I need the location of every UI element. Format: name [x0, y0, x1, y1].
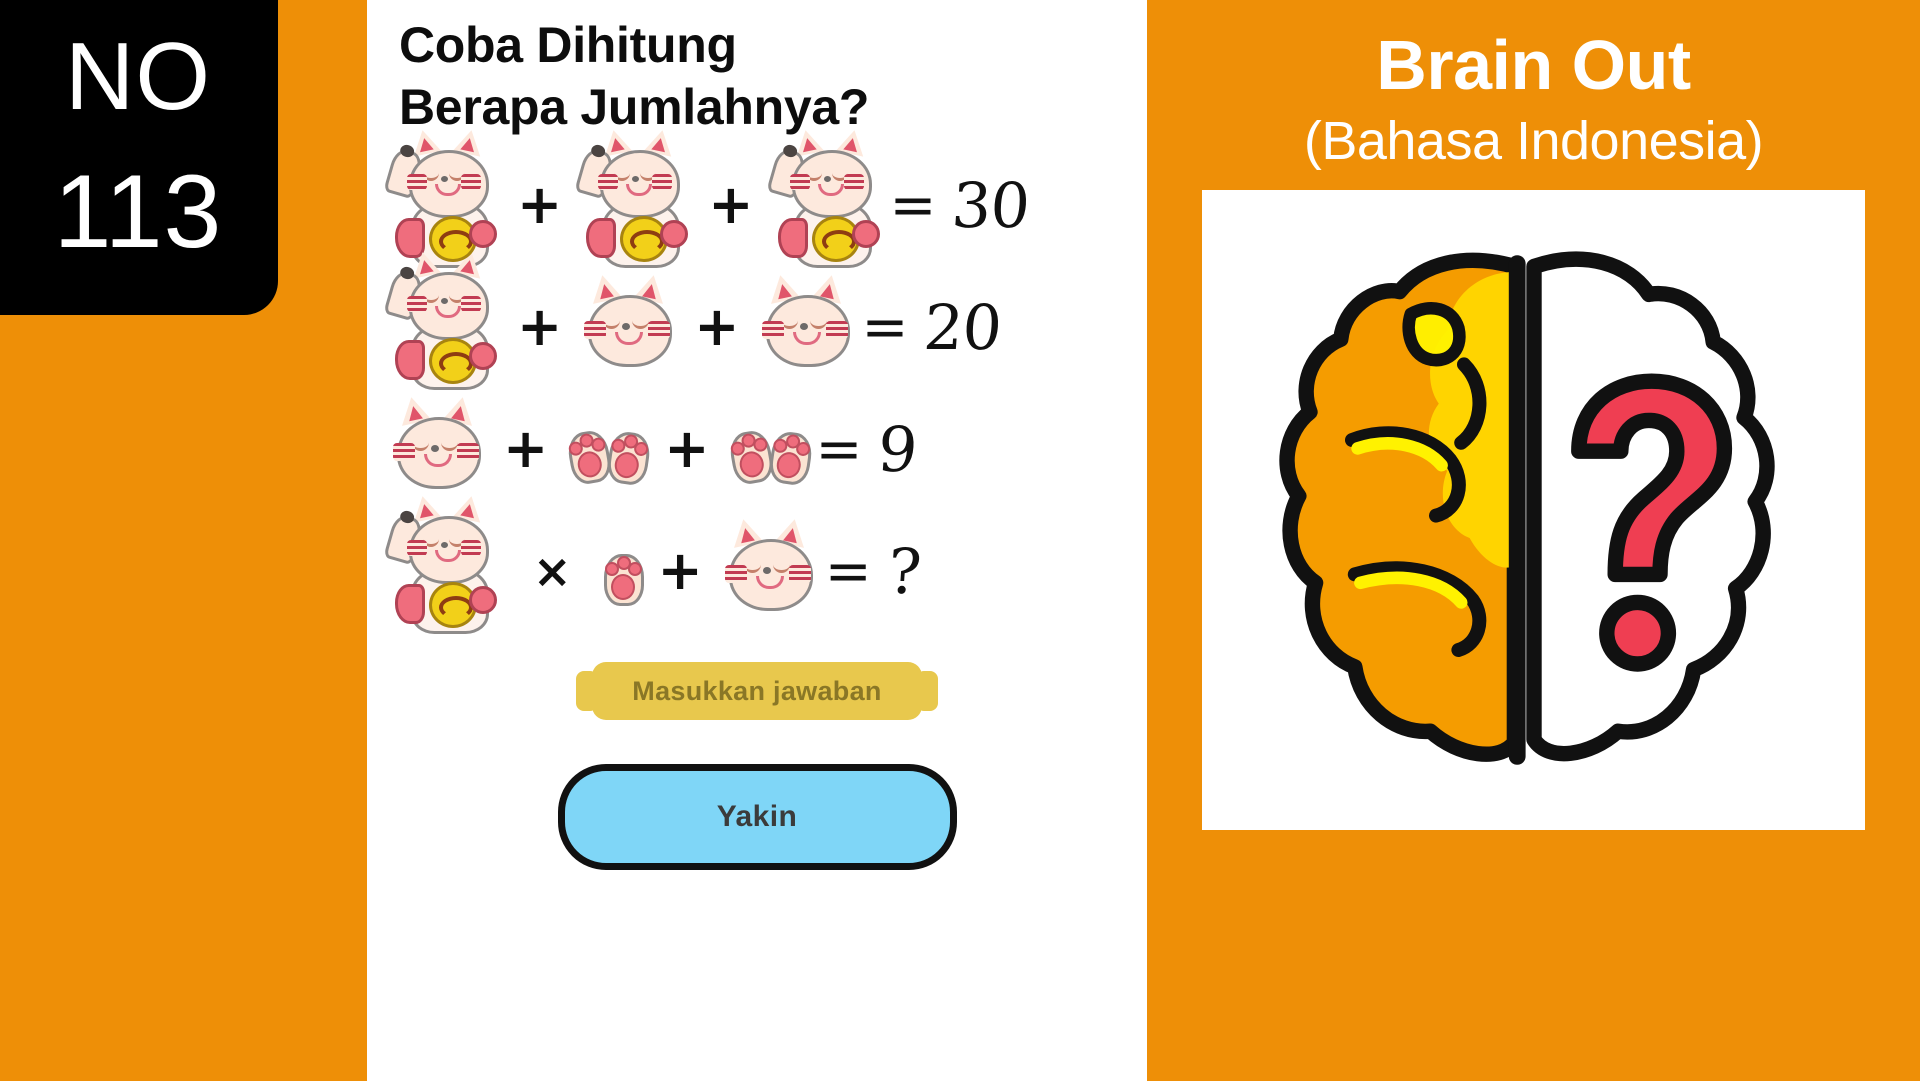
- cat-paw-icon: [761, 413, 816, 485]
- plus-operator: +: [708, 178, 753, 232]
- answer-input-placeholder: Masukkan jawaban: [632, 676, 881, 707]
- level-number-badge: NO 113: [0, 0, 278, 315]
- game-title: Brain Out: [1376, 30, 1690, 100]
- confirm-button[interactable]: Yakin: [558, 764, 957, 870]
- cat-paw-icon: [600, 413, 655, 485]
- equals-sign: =: [816, 417, 863, 482]
- cat-head-icon: [717, 525, 821, 617]
- cat-head-icon: [576, 281, 680, 373]
- equals-sign: =: [890, 173, 937, 238]
- puzzle-title-line-1: Coba Dihitung: [399, 14, 1147, 76]
- branding-panel: Brain Out (Bahasa Indonesia): [1147, 0, 1920, 1081]
- equation-row: + + = 20: [385, 266, 1147, 388]
- badge-label: NO: [27, 10, 211, 126]
- page-title: Coba Dihitung Berapa Jumlahnya?: [399, 14, 1147, 138]
- equation-result: 20: [922, 291, 1004, 364]
- badge-number: 113: [16, 129, 223, 265]
- lucky-cat-icon: [385, 510, 503, 632]
- equation-row: × + = ?: [385, 510, 1147, 632]
- equation-result: ?: [885, 535, 922, 608]
- equation-result: 30: [950, 169, 1032, 242]
- lucky-cat-icon: [385, 144, 503, 266]
- lucky-cat-icon: [576, 144, 694, 266]
- lucky-cat-icon: [385, 266, 503, 388]
- equals-sign: =: [825, 539, 872, 604]
- cat-paw-icon: [598, 538, 644, 604]
- answer-input[interactable]: Masukkan jawaban: [592, 662, 922, 720]
- plus-operator: +: [664, 422, 709, 476]
- equation-result: 9: [876, 413, 920, 486]
- lucky-cat-icon: [768, 144, 886, 266]
- multiply-operator: ×: [533, 548, 572, 594]
- answer-input-container: Masukkan jawaban: [367, 662, 1147, 720]
- game-subtitle: (Bahasa Indonesia): [1304, 114, 1763, 168]
- cat-paw-pair-icon: [724, 416, 812, 482]
- equation-row: + + = 30: [385, 144, 1147, 266]
- puzzle-panel: Coba Dihitung Berapa Jumlahnya? +: [367, 0, 1147, 1081]
- cat-head-icon: [385, 403, 489, 495]
- plus-operator: +: [517, 178, 562, 232]
- puzzle-title-line-2: Berapa Jumlahnya?: [399, 76, 1147, 138]
- brain-question-mark-icon: [1254, 230, 1814, 790]
- plus-operator: +: [503, 422, 548, 476]
- confirm-button-container: Yakin: [367, 764, 1147, 870]
- brain-artwork-panel: [1202, 190, 1865, 830]
- plus-operator: +: [517, 300, 562, 354]
- equation-list: + + = 30: [367, 144, 1147, 632]
- cat-head-icon: [754, 281, 858, 373]
- equals-sign: =: [862, 295, 909, 360]
- cat-paw-pair-icon: [562, 416, 650, 482]
- plus-operator: +: [658, 544, 703, 598]
- equation-row: + + = 9: [385, 388, 1147, 510]
- plus-operator: +: [694, 300, 739, 354]
